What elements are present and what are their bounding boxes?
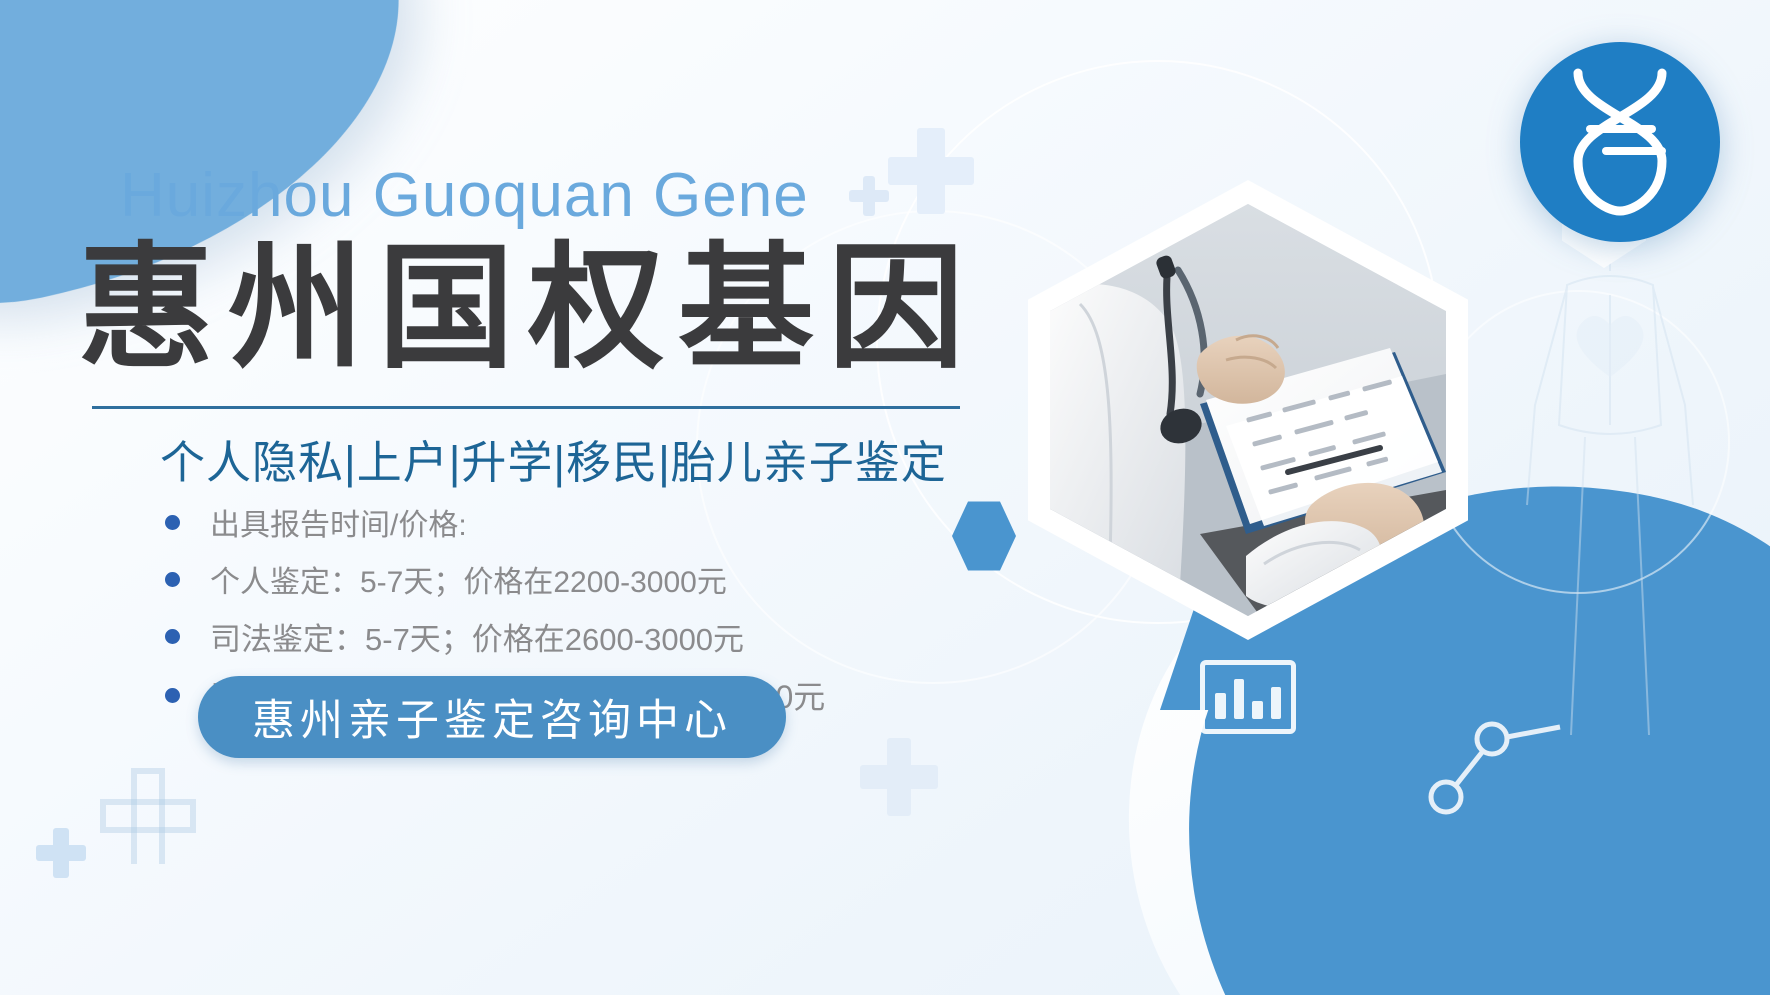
banner-content: Huizhou Guoquan Gene 惠州国权基因 个人隐私|上户|升学|移… (0, 0, 1060, 995)
bullet-text: 司法鉴定：5-7天；价格在2600-3000元 (210, 614, 744, 659)
bullet-text: 出具报告时间/价格: (210, 500, 467, 544)
list-item: 出具报告时间/价格: (165, 500, 825, 544)
list-item: 个人鉴定：5-7天；价格在2200-3000元 (165, 557, 825, 601)
bullet-dot-icon (165, 515, 180, 530)
title-divider (92, 406, 960, 409)
molecule-icon (1420, 705, 1570, 835)
dna-helix-logo (1520, 42, 1720, 242)
bullet-dot-icon (165, 572, 180, 587)
bullet-text: 个人鉴定：5-7天；价格在2200-3000元 (210, 557, 727, 601)
english-title: Huizhou Guoquan Gene (120, 160, 809, 231)
bullet-dot-icon (165, 688, 180, 703)
doctor-photo-hexagon (1028, 180, 1468, 640)
service-subtitle: 个人隐私|上户|升学|移民|胎儿亲子鉴定 (160, 426, 947, 491)
consultation-center-button-label: 惠州亲子鉴定咨询中心 (252, 686, 732, 748)
lab-bars-icon (1200, 660, 1296, 734)
promo-banner: Huizhou Guoquan Gene 惠州国权基因 个人隐私|上户|升学|移… (0, 0, 1770, 995)
bullet-dot-icon (165, 629, 180, 644)
consultation-center-button[interactable]: 惠州亲子鉴定咨询中心 (198, 676, 786, 758)
list-item: 司法鉴定：5-7天；价格在2600-3000元 (165, 614, 825, 659)
human-body-silhouette-icon (1505, 175, 1715, 775)
chinese-title: 惠州国权基因 (78, 238, 968, 378)
